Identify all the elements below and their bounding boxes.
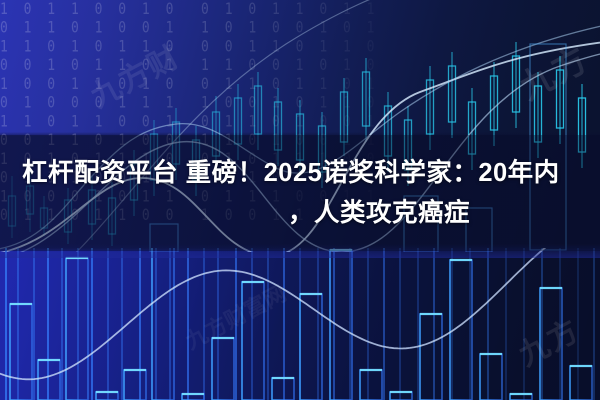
headline-block: 杠杆配资平台 重磅！2025诺奖科学家：20年内 ，人类攻克癌症 (0, 137, 600, 249)
headline-line-2: ，人类攻克癌症 (22, 193, 578, 233)
bottom-band-tint (0, 250, 600, 400)
headline-line-1: 杠杆配资平台 重磅！2025诺奖科学家：20年内 (22, 153, 578, 193)
banner-image: 1 0 1 1 0 0 1 0 0 1 0 1 1 0 1 1 0 1 1 0 … (0, 0, 600, 400)
